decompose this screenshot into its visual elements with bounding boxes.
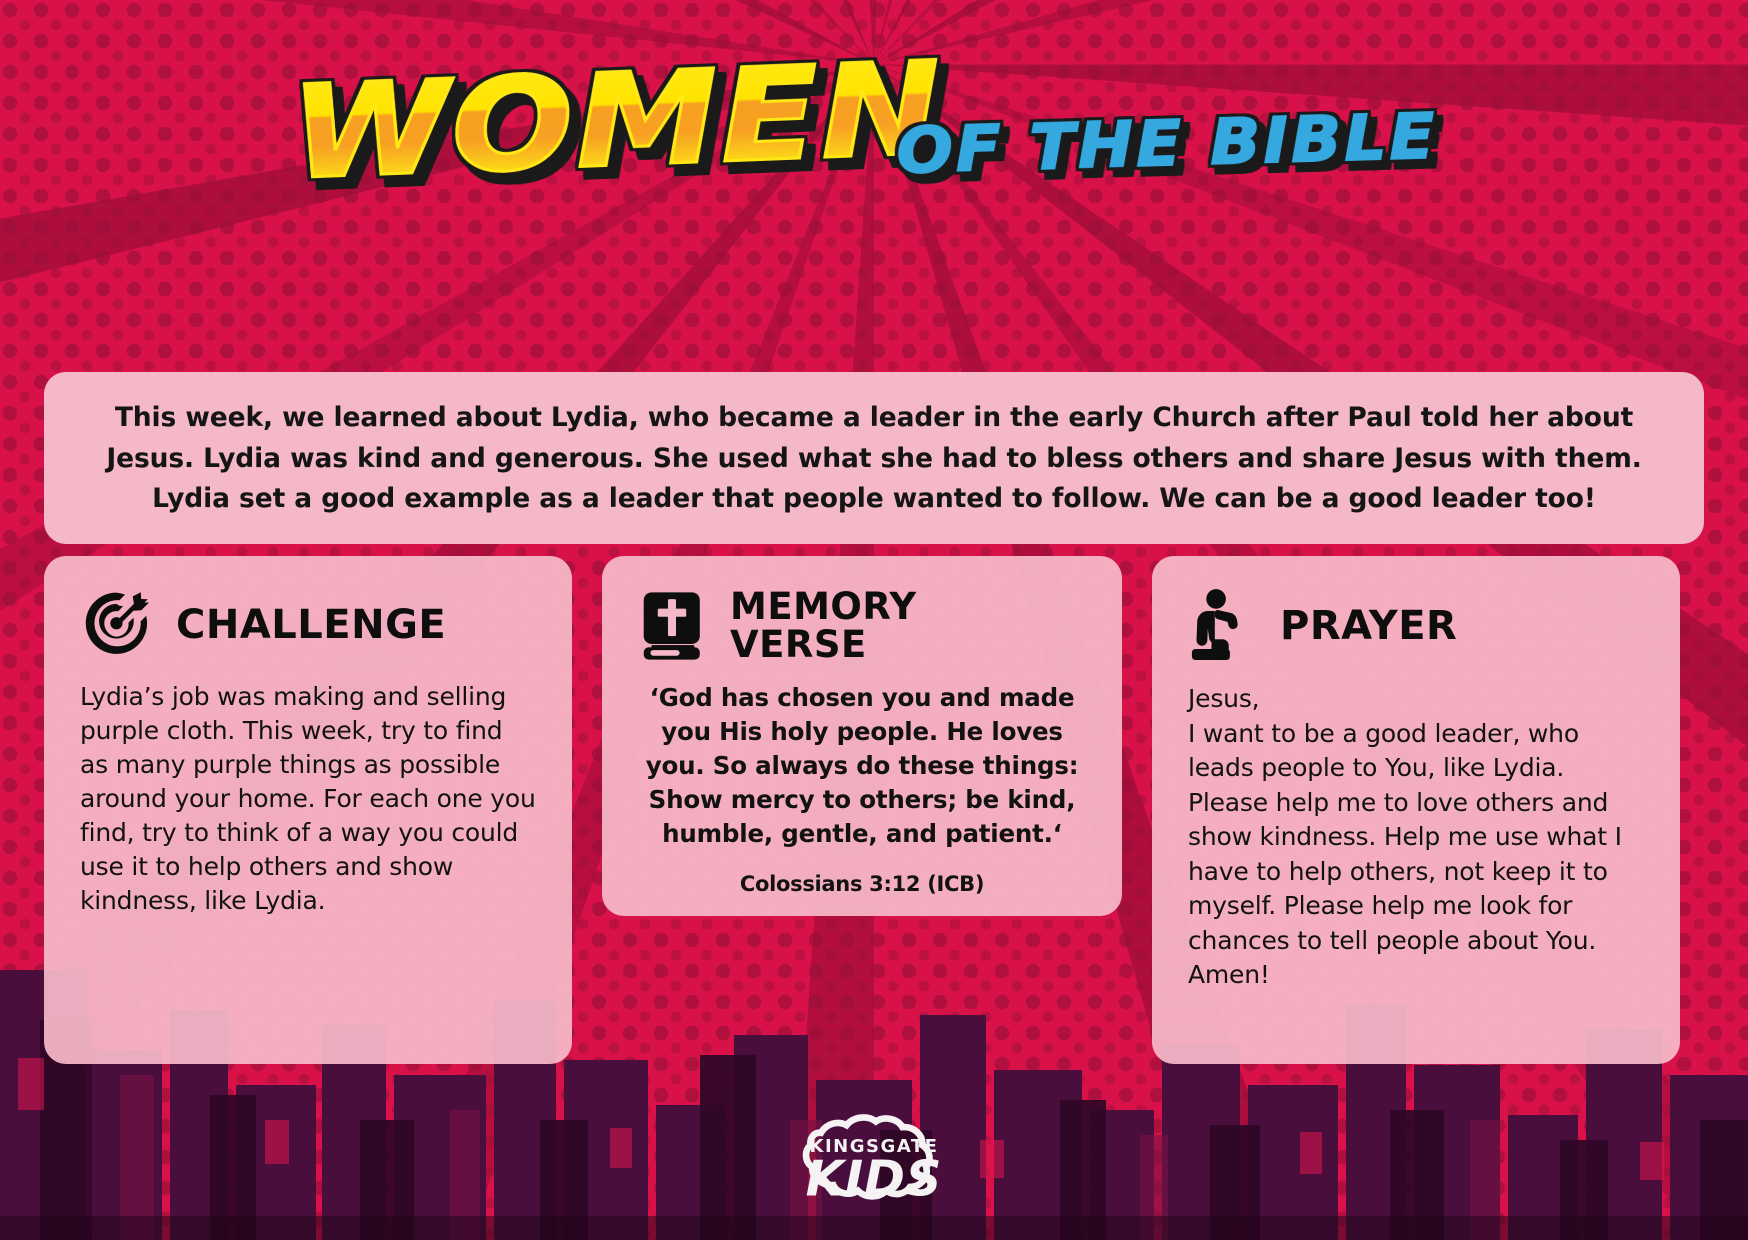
poster-root: WOMEN OF THE BIBLE This week, we learned… [0, 0, 1748, 1240]
bible-cross-icon [638, 589, 710, 663]
poster-title-block: WOMEN OF THE BIBLE [0, 58, 1748, 186]
memory-verse-card-title: MEMORY VERSE [730, 588, 917, 663]
memory-verse-title-line2: VERSE [730, 626, 917, 664]
logo-kids-text: KIDS [806, 1149, 943, 1207]
prayer-card-title: PRAYER [1280, 606, 1457, 647]
prayer-card: PRAYER Jesus, I want to be a good leader… [1152, 556, 1680, 1064]
memory-verse-reference: Colossians 3:12 (ICB) [638, 872, 1086, 896]
summary-text: This week, we learned about Lydia, who b… [78, 398, 1670, 520]
kingsgate-kids-logo: KINGSGATE KIDS [779, 1112, 969, 1222]
memory-verse-title-line1: MEMORY [730, 588, 917, 626]
memory-verse-text: ‘God has chosen you and made you His hol… [638, 681, 1086, 850]
page-subtitle: OF THE BIBLE [896, 105, 1438, 182]
target-arrow-icon [80, 588, 154, 662]
kneeling-praying-person-icon [1188, 588, 1258, 664]
challenge-card-body: Lydia’s job was making and selling purpl… [80, 680, 536, 918]
challenge-card: CHALLENGE Lydia’s job was making and sel… [44, 556, 572, 1064]
page-title: WOMEN [289, 46, 945, 199]
challenge-card-header: CHALLENGE [80, 588, 536, 662]
memory-verse-card-header: MEMORY VERSE [638, 588, 1086, 663]
prayer-card-body: Jesus, I want to be a good leader, who l… [1188, 682, 1644, 993]
memory-verse-card: MEMORY VERSE ‘God has chosen you and mad… [602, 556, 1122, 916]
cards-row: CHALLENGE Lydia’s job was making and sel… [44, 556, 1704, 1064]
summary-banner: This week, we learned about Lydia, who b… [44, 372, 1704, 544]
prayer-card-header: PRAYER [1188, 588, 1644, 664]
challenge-card-title: CHALLENGE [176, 605, 446, 646]
